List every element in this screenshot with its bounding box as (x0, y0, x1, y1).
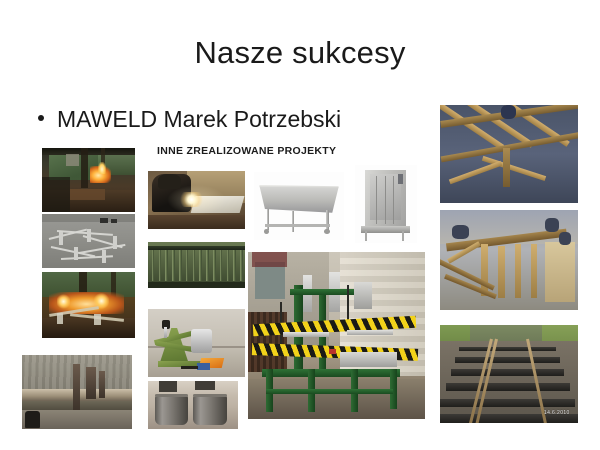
photo-layer-form-post-2 (498, 246, 505, 298)
photo-layer-flame-left (57, 294, 70, 309)
photo-layer-sleeper (440, 399, 575, 408)
photo-layer-bracket-3 (99, 371, 105, 398)
photo-layer-top-rail (148, 246, 245, 250)
photo-layer-cabinet (66, 154, 79, 166)
photo-date-stamp: 14.6.2010 (544, 410, 570, 416)
photo-layer-handle (181, 366, 198, 369)
photo-layer-roller-1 (283, 332, 329, 337)
photo-layer-frame-leg-3 (113, 236, 117, 249)
photo-layer-conveyor-plate (340, 352, 397, 367)
photo-layer-flame-core (98, 162, 106, 174)
photo-layer-rafter-1 (440, 105, 504, 150)
photo-formwork-carpenters (440, 210, 578, 310)
photo-layer-baluster (213, 250, 216, 280)
photo-layer-backwall (42, 214, 135, 222)
photo-layer-cable-2 (385, 176, 386, 224)
photo-layer-baluster (172, 250, 175, 280)
photo-stainless-panel (355, 165, 417, 243)
photo-layer-flowers (252, 252, 287, 267)
photo-layer-indicator (329, 349, 336, 354)
photo-layer-roller-2 (347, 330, 393, 335)
photo-layer-wheel-2 (324, 229, 329, 234)
photo-layer-shaft (164, 327, 168, 338)
photo-layer-frame-leg-1 (59, 232, 63, 245)
photo-layer-object-1 (100, 218, 108, 223)
photo-layer-leg-1 (267, 209, 270, 231)
photo-layer-table-frame (262, 369, 400, 377)
photo-layer-form-post-4 (531, 244, 537, 298)
photo-layer-knob (398, 174, 402, 183)
photo-layer-bucket-right (193, 395, 227, 425)
photo-layer-worker (501, 105, 516, 119)
photo-layer-worker-left (452, 225, 469, 239)
photo-layer-leg-2 (292, 211, 295, 231)
photo-layer-form-post-3 (515, 244, 522, 298)
photo-layer-leg-2 (402, 231, 404, 240)
photo-layer-baluster (165, 250, 168, 280)
slide-canvas: Nasze sukcesy MAWELD Marek Potrzebski IN… (0, 0, 600, 450)
photo-layer-bracket-2 (86, 367, 96, 400)
photo-green-machine (148, 309, 245, 377)
bullet-item-label: MAWELD Marek Potrzebski (57, 104, 341, 134)
photo-welder-arc (148, 171, 245, 229)
photo-layer-bucket-left (155, 395, 187, 425)
photo-layer-sleeper (455, 357, 560, 363)
photo-layer-cable-3 (393, 176, 394, 224)
photo-layer-baluster (199, 250, 202, 280)
photo-layer-baluster (240, 250, 243, 280)
photo-forge-flames-tools (42, 272, 135, 338)
photo-layer-machine-top-1 (159, 381, 177, 392)
photo-layer-worker-right-2 (559, 232, 571, 245)
photo-green-conveyor-machine (248, 252, 425, 419)
photo-green-balustrade (148, 242, 245, 288)
photo-layer-post (81, 148, 88, 188)
photo-layer-baluster (186, 250, 189, 280)
photo-layer-cylinder (191, 329, 212, 352)
photo-layer-object-2 (111, 219, 118, 223)
photo-layer-brace-left (449, 160, 503, 183)
photo-layer-window (255, 262, 285, 299)
bullet-list-item: MAWELD Marek Potrzebski (38, 104, 341, 134)
photo-layer-cylinder-2 (94, 314, 101, 325)
photo-steel-beam-wall (22, 355, 132, 429)
photo-layer-wheel-1 (264, 229, 269, 234)
photo-layer-leg-1 (365, 231, 367, 240)
photo-layer-sleeper (446, 383, 570, 391)
photo-layer-floor (148, 215, 245, 229)
photo-layer-frame-leg-2 (87, 229, 91, 242)
photo-layer-baluster (220, 250, 223, 280)
photo-layer-control-box (354, 282, 372, 309)
photo-layer-sleeper (451, 369, 564, 376)
page-title: Nasze sukcesy (0, 33, 600, 73)
photo-layer-baluster (193, 250, 196, 280)
photo-layer-baluster (159, 250, 162, 280)
photo-layer-ceiling-beam (42, 148, 135, 155)
photo-layer-wall-panel (545, 242, 575, 302)
photo-layer-bucket-rim-right (193, 394, 227, 396)
bullet-dot-icon (38, 115, 44, 121)
photo-layer-baluster (179, 250, 182, 280)
photo-steel-buckets (148, 381, 238, 429)
photo-layer-shadow (42, 177, 70, 212)
photo-layer-table-brace (266, 389, 393, 394)
photo-layer-machine-top-2 (195, 381, 215, 390)
photo-layer-bracket-1 (73, 364, 81, 410)
photo-layer-baluster (206, 250, 209, 280)
photo-layer-anvil (70, 189, 105, 201)
photo-layer-sleeper (459, 347, 556, 352)
photo-layer-baluster (233, 250, 236, 280)
photo-layer-hose-2 (347, 285, 349, 322)
photo-stainless-trough (254, 172, 344, 240)
photo-layer-ground (248, 379, 425, 419)
photo-layer-worker-right (545, 218, 559, 232)
photo-layer-trough-body (259, 186, 338, 213)
section-subheading: INNE ZREALIZOWANE PROJEKTY (157, 145, 336, 157)
photo-layer-floor (148, 282, 245, 288)
photo-layer-frame-leg-4 (74, 247, 78, 260)
photo-railway-track: 14.6.2010 (440, 325, 578, 423)
photo-layer-arc-core (179, 192, 204, 207)
photo-layer-cylinder-1 (57, 313, 64, 324)
photo-forge-green-wall (42, 148, 135, 212)
photo-layer-blue-part (197, 363, 211, 369)
photo-layer-post (503, 148, 510, 187)
photo-layer-frame-leg-5 (102, 250, 106, 263)
photo-layer-baluster (227, 250, 230, 280)
photo-layer-baluster (152, 250, 155, 280)
photo-roof-truss (440, 105, 578, 203)
photo-steel-frames-floor (42, 214, 135, 268)
photo-layer-cable-1 (376, 176, 377, 224)
photo-layer-crossbar (265, 224, 330, 227)
photo-layer-bucket (25, 411, 39, 427)
photo-layer-bucket-rim-left (155, 394, 187, 396)
